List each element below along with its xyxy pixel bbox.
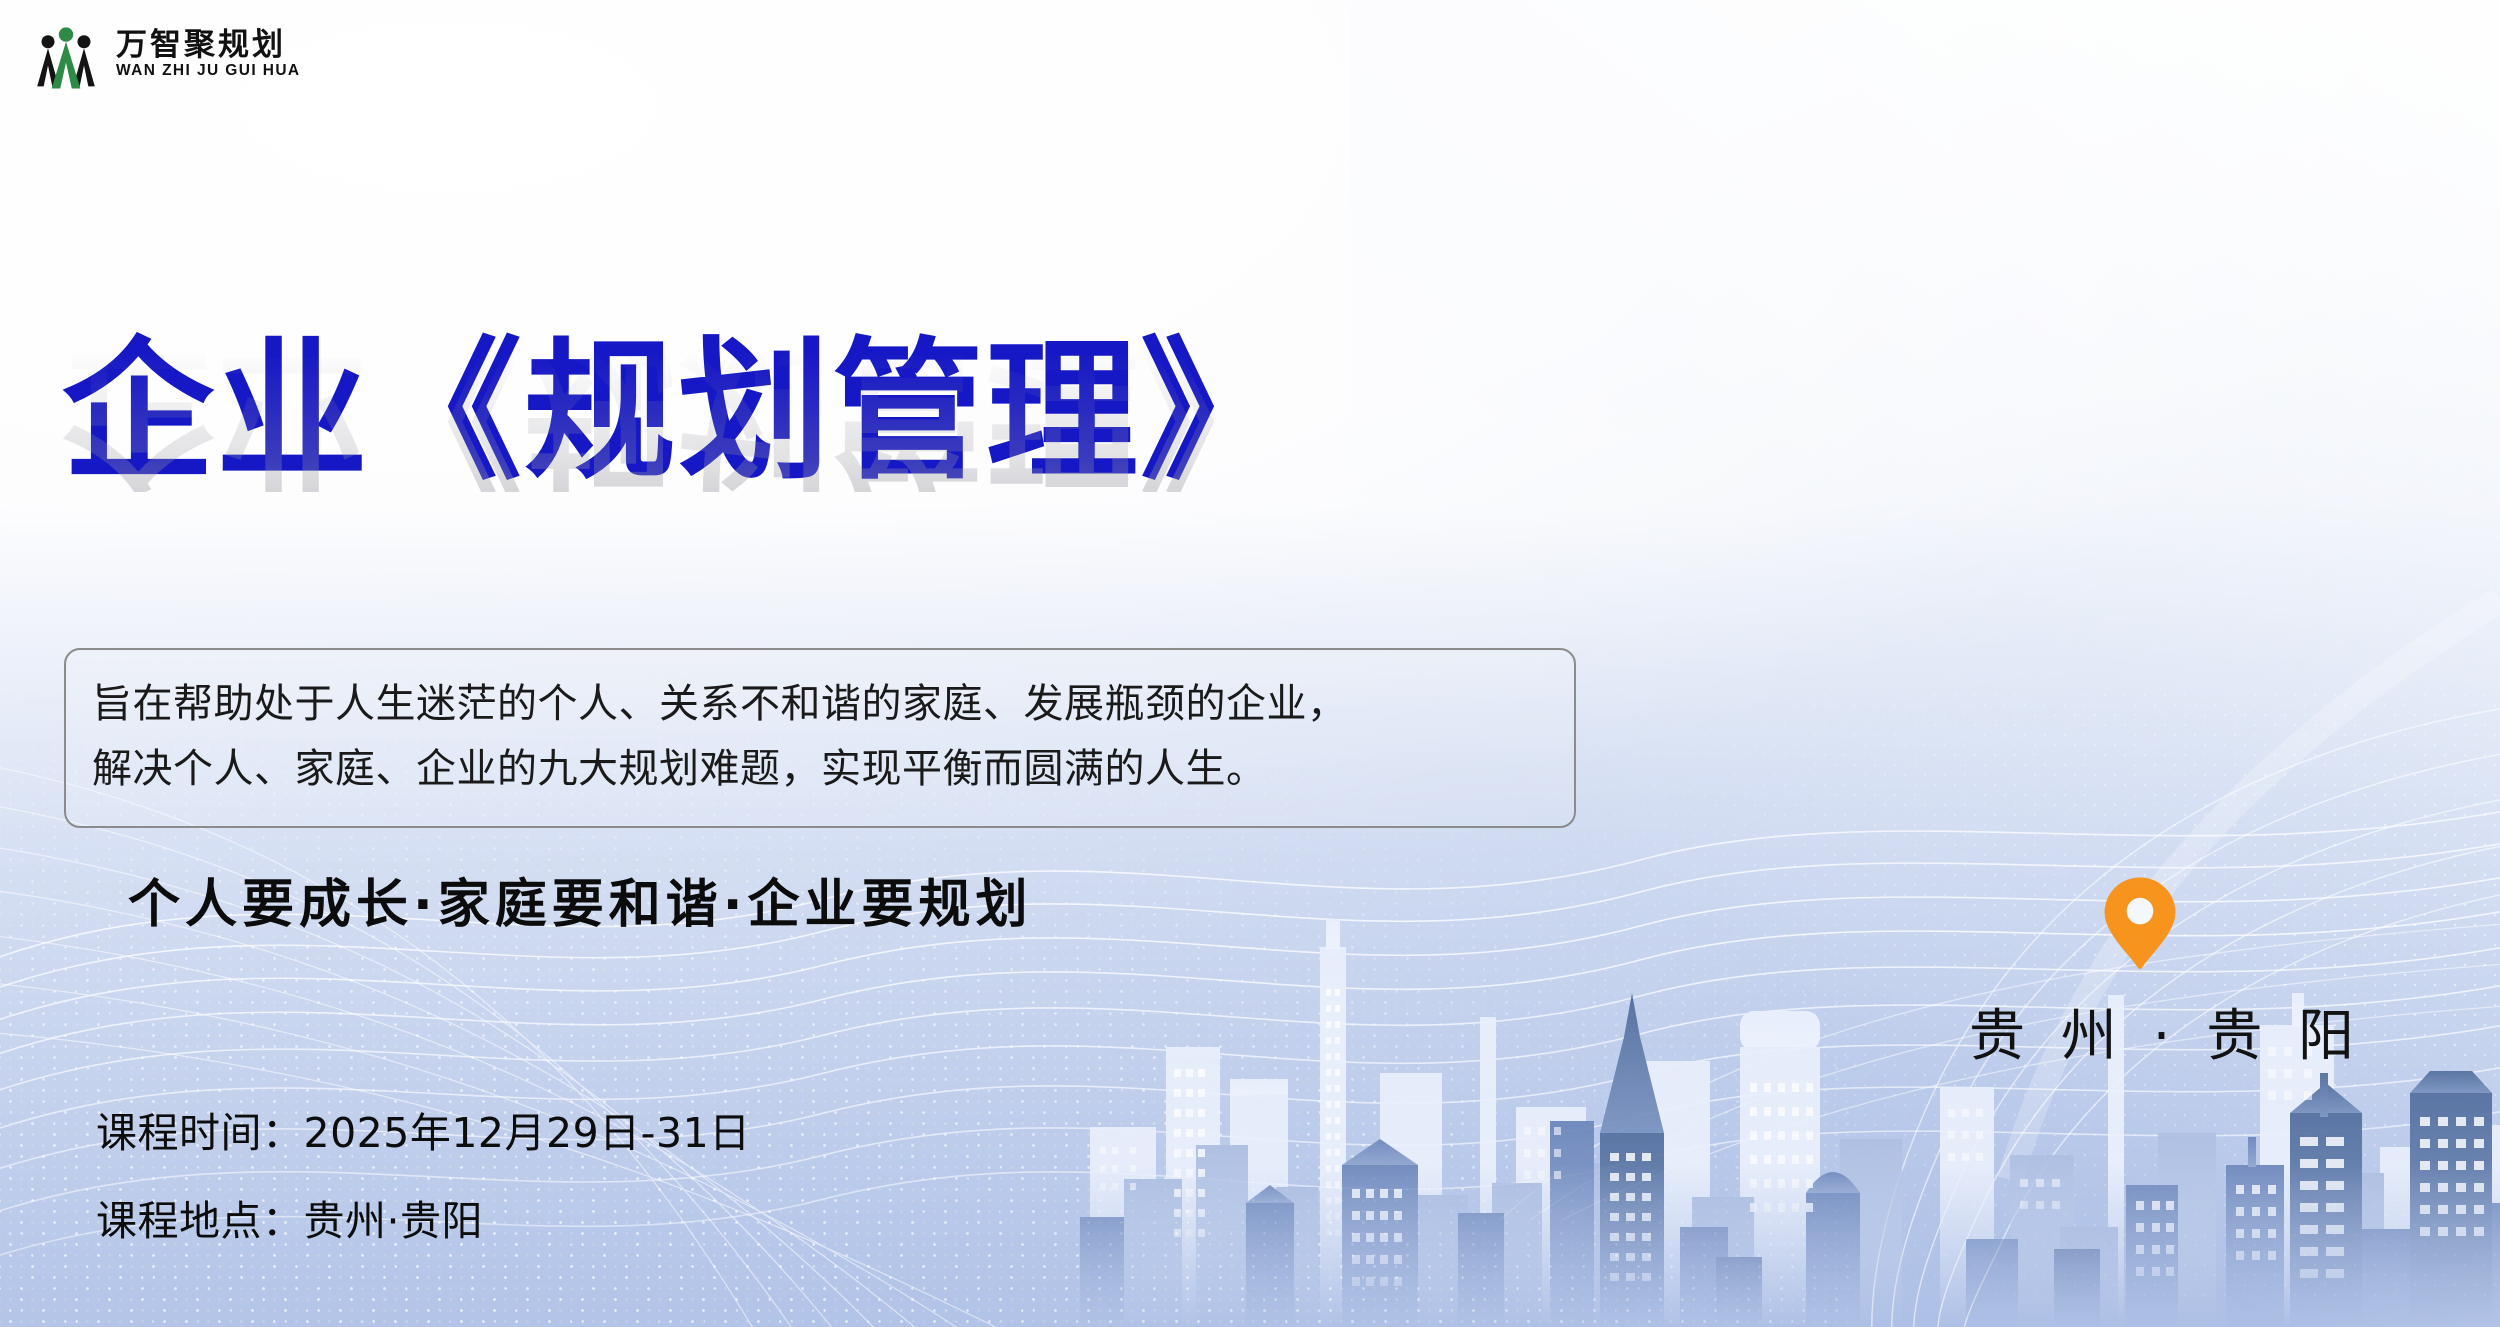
three-people-logo-icon <box>30 18 102 90</box>
description-box: 旨在帮助处于人生迷茫的个人、关系不和谐的家庭、发展瓶颈的企业， 解决个人、家庭、… <box>64 648 1576 828</box>
promo-banner: 万智聚规划 WAN ZHI JU GUI HUA 企业《规划管理》 企业《规划管… <box>0 0 2500 1327</box>
brand-name-en: WAN ZHI JU GUI HUA <box>116 63 301 79</box>
location-block: 贵 州 · 贵 阳 <box>1960 875 2320 1072</box>
brand-logo[interactable]: 万智聚规划 WAN ZHI JU GUI HUA <box>30 18 301 90</box>
course-time: 课程时间：2025年12月29日-31日 <box>96 1113 751 1154</box>
brand-name-cn: 万智聚规划 <box>116 29 301 62</box>
tagline: 个人要成长·家庭要和谐·企业要规划 <box>128 862 1033 937</box>
location-city-name: 贵 州 · 贵 阳 <box>1960 991 2320 1072</box>
map-pin-icon <box>2102 875 2178 971</box>
page-title-reflection: 企业《规划管理》 <box>62 340 1294 492</box>
course-place: 课程地点：贵州·贵阳 <box>96 1201 751 1242</box>
description-line-1: 旨在帮助处于人生迷茫的个人、关系不和谐的家庭、发展瓶颈的企业， <box>92 672 1548 737</box>
hero-title-block: 企业《规划管理》 企业《规划管理》 <box>62 336 1294 644</box>
course-info: 课程时间：2025年12月29日-31日 课程地点：贵州·贵阳 <box>96 1113 751 1242</box>
description-line-2: 解决个人、家庭、企业的九大规划难题，实现平衡而圆满的人生。 <box>92 737 1548 802</box>
